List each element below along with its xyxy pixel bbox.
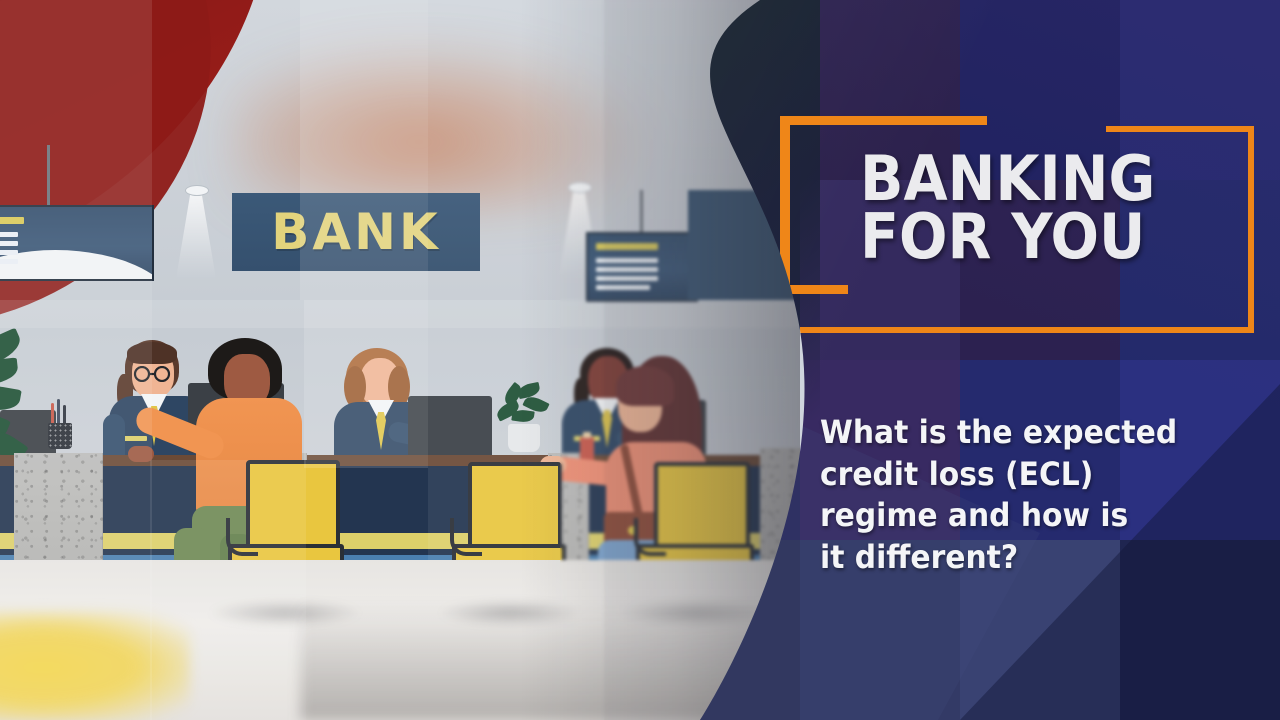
bank-sign-label: BANK — [271, 203, 440, 261]
board-swoosh — [0, 250, 154, 281]
board-header-bar — [596, 243, 658, 250]
subtitle-line-1: What is the expected — [820, 412, 1211, 454]
board-panel — [0, 205, 154, 281]
plant-pot — [508, 424, 540, 452]
frame-bottom-long-arm — [800, 327, 1254, 333]
board-text-line — [596, 285, 650, 290]
plant-leaf — [511, 409, 534, 424]
subtitle-line-3: regime and how is — [820, 495, 1211, 537]
plant-leaf — [0, 357, 19, 386]
board-text-line — [0, 259, 18, 264]
glasses-icon — [131, 366, 177, 382]
plant-desk — [496, 388, 552, 460]
chair-arm — [634, 518, 666, 556]
chair-shadow — [210, 600, 360, 626]
board-text-line — [596, 267, 658, 272]
frame-top-left-arm — [780, 116, 987, 125]
bank-interior-illustration: BANK — [0, 0, 800, 720]
board-text-line — [0, 241, 18, 246]
counter-item-cap — [583, 432, 591, 438]
board-text-line — [596, 258, 658, 263]
title-block: BANKING FOR YOU — [860, 150, 1280, 267]
board-rod — [640, 190, 643, 232]
board-text-line — [0, 250, 18, 255]
board-text-line — [0, 232, 18, 237]
board-header-bar — [0, 217, 24, 224]
bank-sign: BANK — [232, 193, 480, 271]
chair-shadow — [620, 600, 770, 626]
pen-cup — [48, 423, 72, 449]
chair-arm — [226, 518, 258, 556]
pen — [51, 403, 54, 425]
pen — [63, 405, 66, 425]
chair-shadow — [440, 600, 580, 626]
pen-holder — [48, 415, 72, 457]
light-bulb — [185, 185, 209, 196]
title-line-2: FOR YOU — [860, 208, 1246, 266]
hair-fringe — [127, 342, 177, 364]
frame-top-right-arm — [1106, 126, 1254, 132]
floor-yellow-patch — [0, 612, 190, 720]
plant-leaf — [0, 382, 22, 414]
hair-front — [616, 366, 674, 406]
chair-arm — [450, 518, 482, 556]
hand — [128, 446, 154, 462]
hanging-info-board-left — [0, 205, 150, 277]
subtitle-line-4: it different? — [820, 537, 1211, 579]
monitor-teller-two — [408, 396, 492, 458]
subtitle-line-2: credit loss (ECL) — [820, 454, 1211, 496]
light-bulb — [568, 182, 592, 193]
hanging-info-board-right — [586, 232, 694, 298]
board-rod — [47, 145, 50, 205]
subtitle-block: What is the expected credit loss (ECL) r… — [820, 412, 1240, 578]
pen — [57, 399, 60, 425]
board-text-line — [596, 276, 658, 281]
video-thumbnail: BANK — [0, 0, 1280, 720]
board-panel — [586, 232, 698, 302]
